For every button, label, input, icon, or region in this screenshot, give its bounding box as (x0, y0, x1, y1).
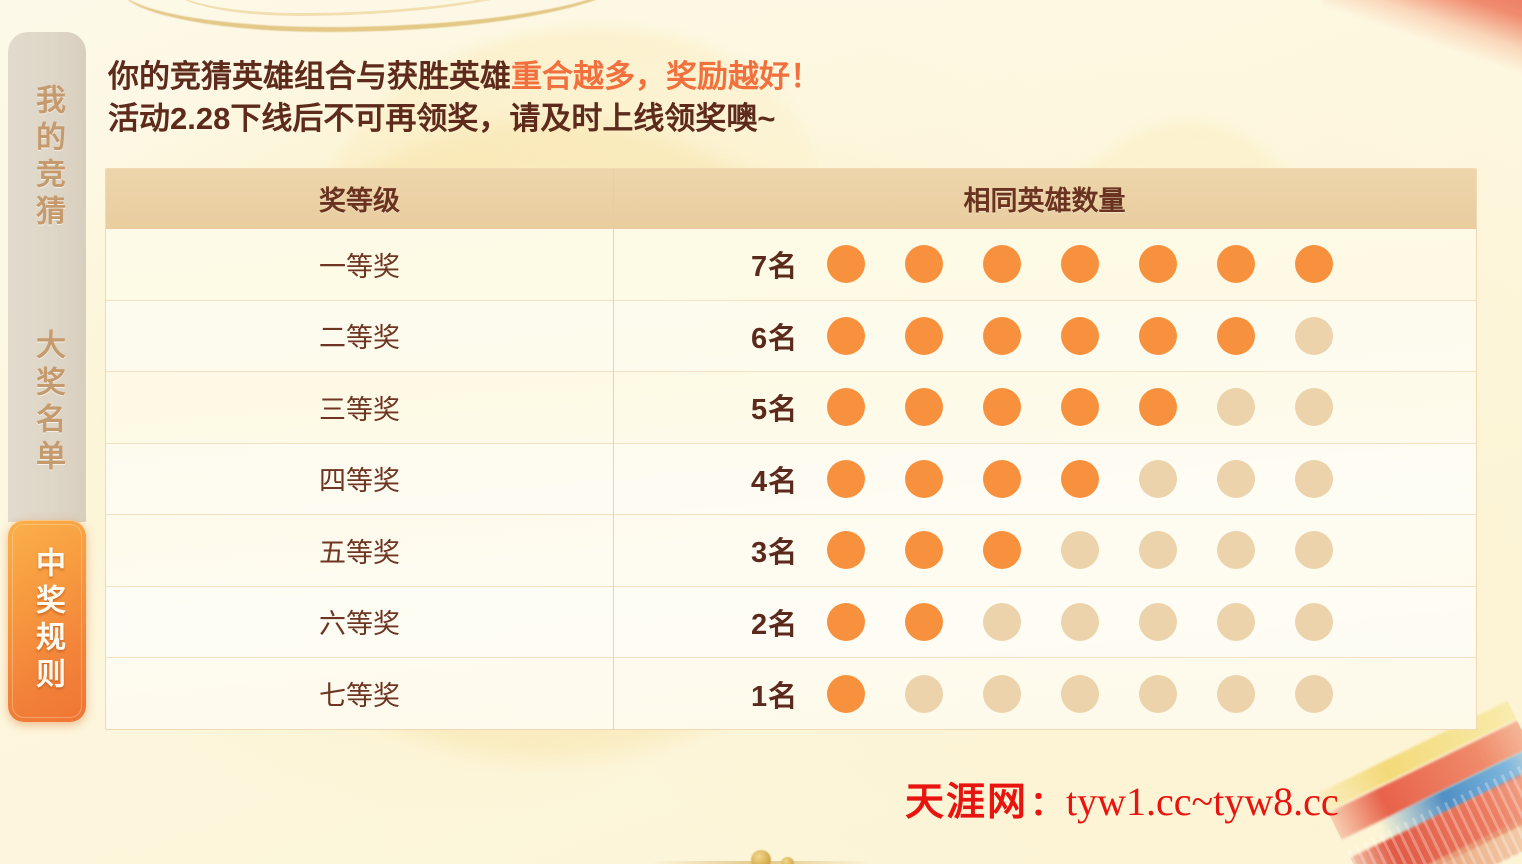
hero-dot-group (827, 460, 1333, 498)
hero-dot-filled (827, 531, 865, 569)
cell-matching-heroes: 2名 (613, 587, 1476, 658)
hero-dot-filled (905, 531, 943, 569)
headline-line-2: 活动2.28下线后不可再领奖，请及时上线领奖噢~ (108, 98, 1398, 140)
hero-dot-filled (1061, 245, 1099, 283)
hero-dot-empty (1139, 460, 1177, 498)
hero-dot-empty (1295, 460, 1333, 498)
hero-dot-filled (1139, 245, 1177, 283)
site-watermark: 天涯网 ： tyw1.cc~tyw8.cc (905, 771, 1339, 827)
hero-dot-empty (1217, 460, 1255, 498)
hero-dot-filled (1061, 317, 1099, 355)
hero-dot-empty (983, 675, 1021, 713)
table-row: 二等奖6名 (106, 301, 1476, 373)
sidebar-item-label: 我的竞猜 (25, 84, 69, 232)
hero-count-label: 4名 (751, 458, 827, 500)
table-header-row: 奖等级 相同英雄数量 (106, 169, 1476, 229)
hero-dot-empty (1295, 675, 1333, 713)
hero-dot-filled (983, 460, 1021, 498)
table-row: 五等奖3名 (106, 515, 1476, 587)
hero-dot-empty (1217, 531, 1255, 569)
hero-count-label: 2名 (751, 601, 827, 643)
hero-dot-filled (827, 603, 865, 641)
cell-prize-level: 三等奖 (106, 372, 613, 443)
hero-dot-filled (827, 317, 865, 355)
cell-prize-level: 五等奖 (106, 515, 613, 586)
hero-dot-group (827, 603, 1333, 641)
hero-dot-group (827, 531, 1333, 569)
table-row: 六等奖2名 (106, 587, 1476, 659)
cell-matching-heroes: 3名 (613, 515, 1476, 586)
table-row: 四等奖4名 (106, 444, 1476, 516)
hero-dot-filled (983, 317, 1021, 355)
hero-dot-empty (1139, 675, 1177, 713)
hero-dot-empty (1295, 603, 1333, 641)
watermark-url: tyw1.cc~tyw8.cc (1066, 778, 1339, 825)
table-row: 一等奖7名 (106, 229, 1476, 301)
hero-dot-filled (827, 675, 865, 713)
cell-matching-heroes: 5名 (613, 372, 1476, 443)
hero-dot-empty (1061, 603, 1099, 641)
cell-prize-level: 二等奖 (106, 301, 613, 372)
sidebar-item-label: 中奖规则 (25, 547, 69, 695)
hero-dot-filled (1139, 388, 1177, 426)
hero-dot-empty (1217, 388, 1255, 426)
hero-dot-filled (983, 388, 1021, 426)
hero-dot-filled (983, 531, 1021, 569)
sidebar-item-prize-rules[interactable]: 中奖规则 (8, 520, 86, 722)
hero-dot-empty (1139, 603, 1177, 641)
hero-dot-empty (1295, 388, 1333, 426)
table-row: 三等奖5名 (106, 372, 1476, 444)
headline-highlight-text: 重合越多，奖励越好！ (511, 59, 821, 94)
hero-dot-filled (1295, 245, 1333, 283)
cell-matching-heroes: 4名 (613, 444, 1476, 515)
hero-dot-empty (983, 603, 1021, 641)
hero-dot-group (827, 388, 1333, 426)
hero-dot-filled (983, 245, 1021, 283)
gold-bead (781, 857, 794, 864)
hero-count-label: 5名 (751, 386, 827, 428)
watermark-site-name: 天涯网 (905, 771, 1028, 827)
sidebar-item-label: 大奖名单 (25, 329, 69, 477)
rules-headline: 你的竞猜英雄组合与获胜英雄重合越多，奖励越好！ 活动2.28下线后不可再领奖，请… (108, 56, 1398, 140)
headline-normal-text: 你的竞猜英雄组合与获胜英雄 (108, 59, 511, 94)
hero-dot-filled (1217, 245, 1255, 283)
cell-matching-heroes: 6名 (613, 301, 1476, 372)
headline-line-1: 你的竞猜英雄组合与获胜英雄重合越多，奖励越好！ (108, 56, 1398, 98)
cell-prize-level: 一等奖 (106, 229, 613, 300)
hero-dot-empty (1217, 675, 1255, 713)
cell-matching-heroes: 7名 (613, 229, 1476, 300)
hero-dot-filled (905, 388, 943, 426)
hero-count-label: 3名 (751, 529, 827, 571)
cell-prize-level: 四等奖 (106, 444, 613, 515)
cell-prize-level: 六等奖 (106, 587, 613, 658)
hero-dot-group (827, 317, 1333, 355)
hero-dot-filled (1061, 388, 1099, 426)
gold-bead (751, 850, 771, 864)
hero-dot-empty (1139, 531, 1177, 569)
hero-dot-filled (905, 603, 943, 641)
cell-matching-heroes: 1名 (613, 658, 1476, 730)
hero-dot-filled (905, 317, 943, 355)
hero-dot-filled (905, 245, 943, 283)
hero-dot-filled (1217, 317, 1255, 355)
hero-dot-filled (827, 388, 865, 426)
hero-count-label: 7名 (751, 243, 827, 285)
bottom-gold-ornament (651, 842, 871, 864)
sidebar-tab-rail: 我的竞猜 大奖名单 中奖规则 (8, 32, 86, 724)
hero-dot-group (827, 675, 1333, 713)
hero-dot-filled (827, 245, 865, 283)
hero-dot-empty (1061, 531, 1099, 569)
table-row: 七等奖1名 (106, 658, 1476, 730)
hero-dot-empty (1061, 675, 1099, 713)
table-column-divider (613, 169, 614, 729)
hero-dot-filled (1139, 317, 1177, 355)
table-header-matching-heroes: 相同英雄数量 (613, 169, 1476, 228)
hero-dot-filled (827, 460, 865, 498)
sidebar-item-my-predictions[interactable]: 我的竞猜 (8, 32, 86, 284)
activity-rules-screen: 我的竞猜 大奖名单 中奖规则 你的竞猜英雄组合与获胜英雄重合越多，奖励越好！ 活… (0, 0, 1522, 864)
table-body: 一等奖7名二等奖6名三等奖5名四等奖4名五等奖3名六等奖2名七等奖1名 (106, 229, 1476, 730)
hero-dot-empty (1217, 603, 1255, 641)
hero-dot-empty (1295, 317, 1333, 355)
hero-dot-group (827, 245, 1333, 283)
hero-dot-empty (1295, 531, 1333, 569)
prize-rules-table: 奖等级 相同英雄数量 一等奖7名二等奖6名三等奖5名四等奖4名五等奖3名六等奖2… (105, 168, 1477, 730)
hero-dot-filled (905, 460, 943, 498)
sidebar-item-prize-winners[interactable]: 大奖名单 (8, 284, 86, 522)
hero-dot-empty (905, 675, 943, 713)
hero-count-label: 6名 (751, 315, 827, 357)
table-header-prize-level: 奖等级 (106, 169, 613, 228)
cell-prize-level: 七等奖 (106, 658, 613, 730)
hero-count-label: 1名 (751, 673, 827, 715)
hero-dot-filled (1061, 460, 1099, 498)
watermark-separator: ： (1030, 776, 1064, 825)
